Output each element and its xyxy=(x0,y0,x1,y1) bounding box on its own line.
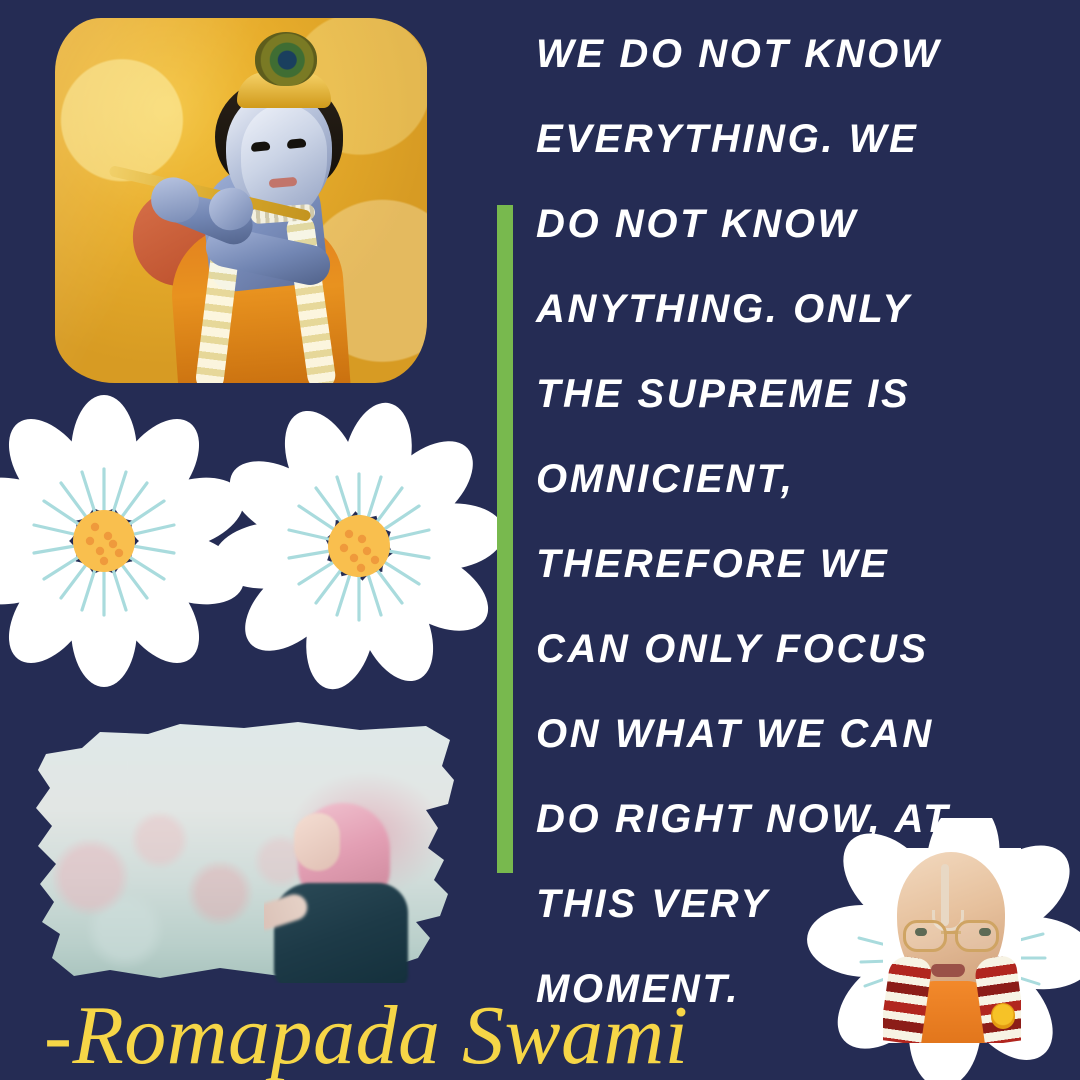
quote-line: ON WHAT WE CAN xyxy=(536,692,1056,777)
green-accent-bar xyxy=(497,205,513,873)
quote-line: OMNICIENT, xyxy=(536,437,1056,522)
quote-line: THE SUPREME IS xyxy=(536,352,1056,437)
krishna-playing-flute-photo xyxy=(55,18,427,383)
quote-poster: WE DO NOT KNOW EVERYTHING. WE DO NOT KNO… xyxy=(0,0,1080,1080)
swami-eye-left xyxy=(915,928,927,936)
swami-face-photo xyxy=(883,848,1021,1043)
daisy-flower-left xyxy=(0,403,226,678)
swami-eye-right xyxy=(979,928,991,936)
romapada-swami-portrait-photo xyxy=(805,818,1080,1080)
marigold-flower-icon xyxy=(991,1003,1015,1029)
woman-in-flower-field-photo xyxy=(30,718,462,983)
quote-line: DO NOT KNOW xyxy=(536,182,1056,267)
peacock-feather-icon xyxy=(255,32,317,86)
daisy-flower-right xyxy=(241,408,481,683)
woman-face xyxy=(294,813,340,871)
swami-mouth xyxy=(931,964,965,977)
quote-line: EVERYTHING. WE xyxy=(536,97,1056,182)
quote-line: ANYTHING. ONLY xyxy=(536,267,1056,352)
attribution-text: -Romapada Swami xyxy=(44,994,688,1078)
quote-line: WE DO NOT KNOW xyxy=(536,12,1056,97)
quote-line: CAN ONLY FOCUS xyxy=(536,607,1056,692)
tilak-mark-icon xyxy=(941,864,949,926)
woman-figure xyxy=(264,787,414,983)
quote-line: THEREFORE WE xyxy=(536,522,1056,607)
